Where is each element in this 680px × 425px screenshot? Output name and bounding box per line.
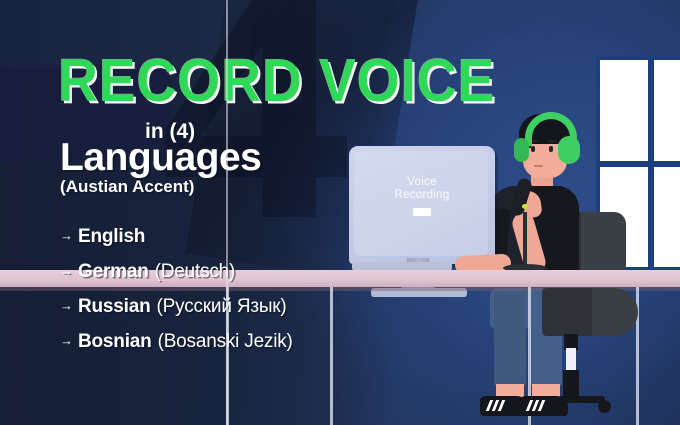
language-name: German	[78, 261, 149, 283]
language-name: Russian	[78, 296, 151, 318]
language-native: (Русский Язык)	[157, 296, 287, 318]
monitor-screen-text: Voice Recording	[349, 176, 495, 202]
list-item: → Russian (Русский Язык)	[60, 296, 390, 331]
monitor-text-line-2: Recording	[349, 189, 495, 202]
list-item: → German (Deutsch)	[60, 261, 390, 296]
person-eye-right	[549, 146, 553, 152]
headphone-cup-right	[558, 136, 580, 164]
arrow-bullet-icon: →	[60, 333, 73, 348]
arrow-bullet-icon: →	[60, 263, 73, 278]
headline-languages: Languages	[60, 136, 261, 180]
arrow-bullet-icon: →	[60, 298, 73, 313]
person-eye-left	[531, 146, 535, 152]
headphone-cup-left	[514, 138, 529, 162]
person-leg-left	[494, 291, 526, 386]
window-pane-bottom-right	[654, 167, 680, 268]
microphone-stand	[523, 212, 527, 268]
language-name: English	[78, 226, 145, 248]
language-native: (Deutsch)	[155, 261, 236, 283]
promo-banner: 4 Voice Recording	[0, 0, 680, 425]
window-pane-top-right	[654, 60, 680, 161]
chair-cylinder-mid	[566, 348, 576, 372]
language-name: Bosnian	[78, 331, 152, 353]
arrow-bullet-icon: →	[60, 228, 73, 243]
guide-line-1	[226, 0, 228, 425]
microphone-led-dot	[522, 204, 528, 209]
chair-cylinder-base	[563, 370, 579, 398]
chair-seat-shadow	[542, 288, 592, 336]
chair-wheel-right	[598, 400, 611, 413]
list-item: → Bosnian (Bosanski Jezik)	[60, 331, 390, 366]
list-item: → English	[60, 226, 390, 261]
window-pane-top-left	[600, 60, 648, 161]
language-list: → English → German (Deutsch) → Russian (…	[60, 226, 390, 366]
page-title: RECORD VOICE	[58, 52, 495, 110]
monitor-text-line-1: Voice	[349, 176, 495, 189]
headline-accent-note: (Austian Accent)	[60, 177, 194, 197]
person-mouth	[534, 165, 543, 167]
monitor-indicator-chip	[413, 208, 431, 216]
